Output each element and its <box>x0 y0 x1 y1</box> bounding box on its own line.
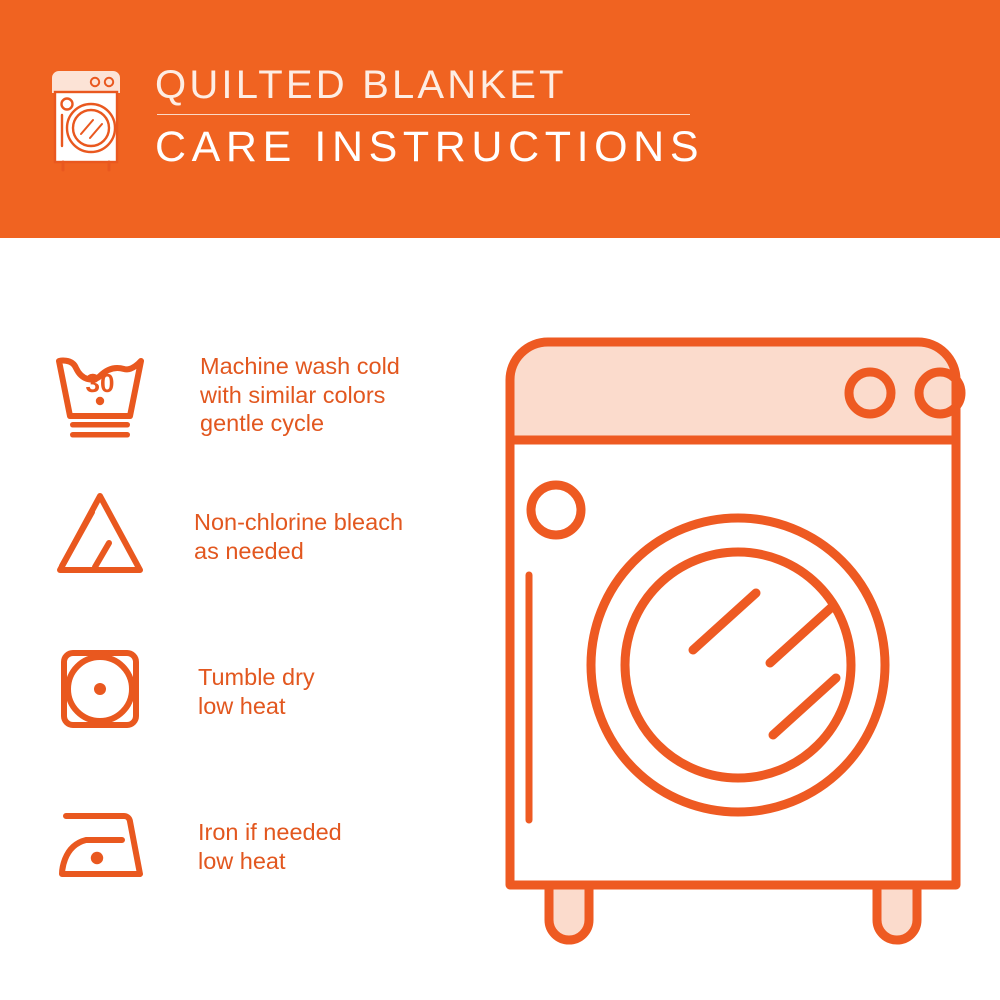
washing-machine-icon <box>45 66 133 174</box>
triangle-non-chlorine-bleach-icon <box>52 486 148 582</box>
care-item-label: Machine wash cold with similar colors ge… <box>200 352 400 438</box>
care-item: Non-chlorine bleach as needed <box>52 486 403 582</box>
leg-right <box>877 885 917 940</box>
header-content: QUILTED BLANKET CARE INSTRUCTIONS <box>45 62 704 174</box>
page-title-secondary: CARE INSTRUCTIONS <box>155 123 704 171</box>
front-load-washing-machine-illustration <box>488 325 978 945</box>
care-instructions-list: 30 Machine wash cold with similar colors… <box>0 238 480 1000</box>
care-item: Iron if needed low heat <box>52 796 342 892</box>
wash-temperature-value: 30 <box>86 368 115 398</box>
care-item: 30 Machine wash cold with similar colors… <box>52 346 400 442</box>
header-banner: QUILTED BLANKET CARE INSTRUCTIONS <box>0 0 1000 238</box>
title-divider <box>157 114 690 115</box>
page-title-primary: QUILTED BLANKET <box>155 62 704 108</box>
header-title-block: QUILTED BLANKET CARE INSTRUCTIONS <box>155 62 704 171</box>
care-item-label: Non-chlorine bleach as needed <box>194 508 403 565</box>
care-item-label: Iron if needed low heat <box>198 818 342 875</box>
iron-low-heat-icon <box>52 796 148 892</box>
care-item-label: Tumble dry low heat <box>198 663 315 720</box>
tumble-dry-low-heat-icon <box>52 641 148 737</box>
wash-tub-30-icon: 30 <box>52 346 148 442</box>
leg-left <box>549 885 589 940</box>
care-item: Tumble dry low heat <box>52 641 315 737</box>
